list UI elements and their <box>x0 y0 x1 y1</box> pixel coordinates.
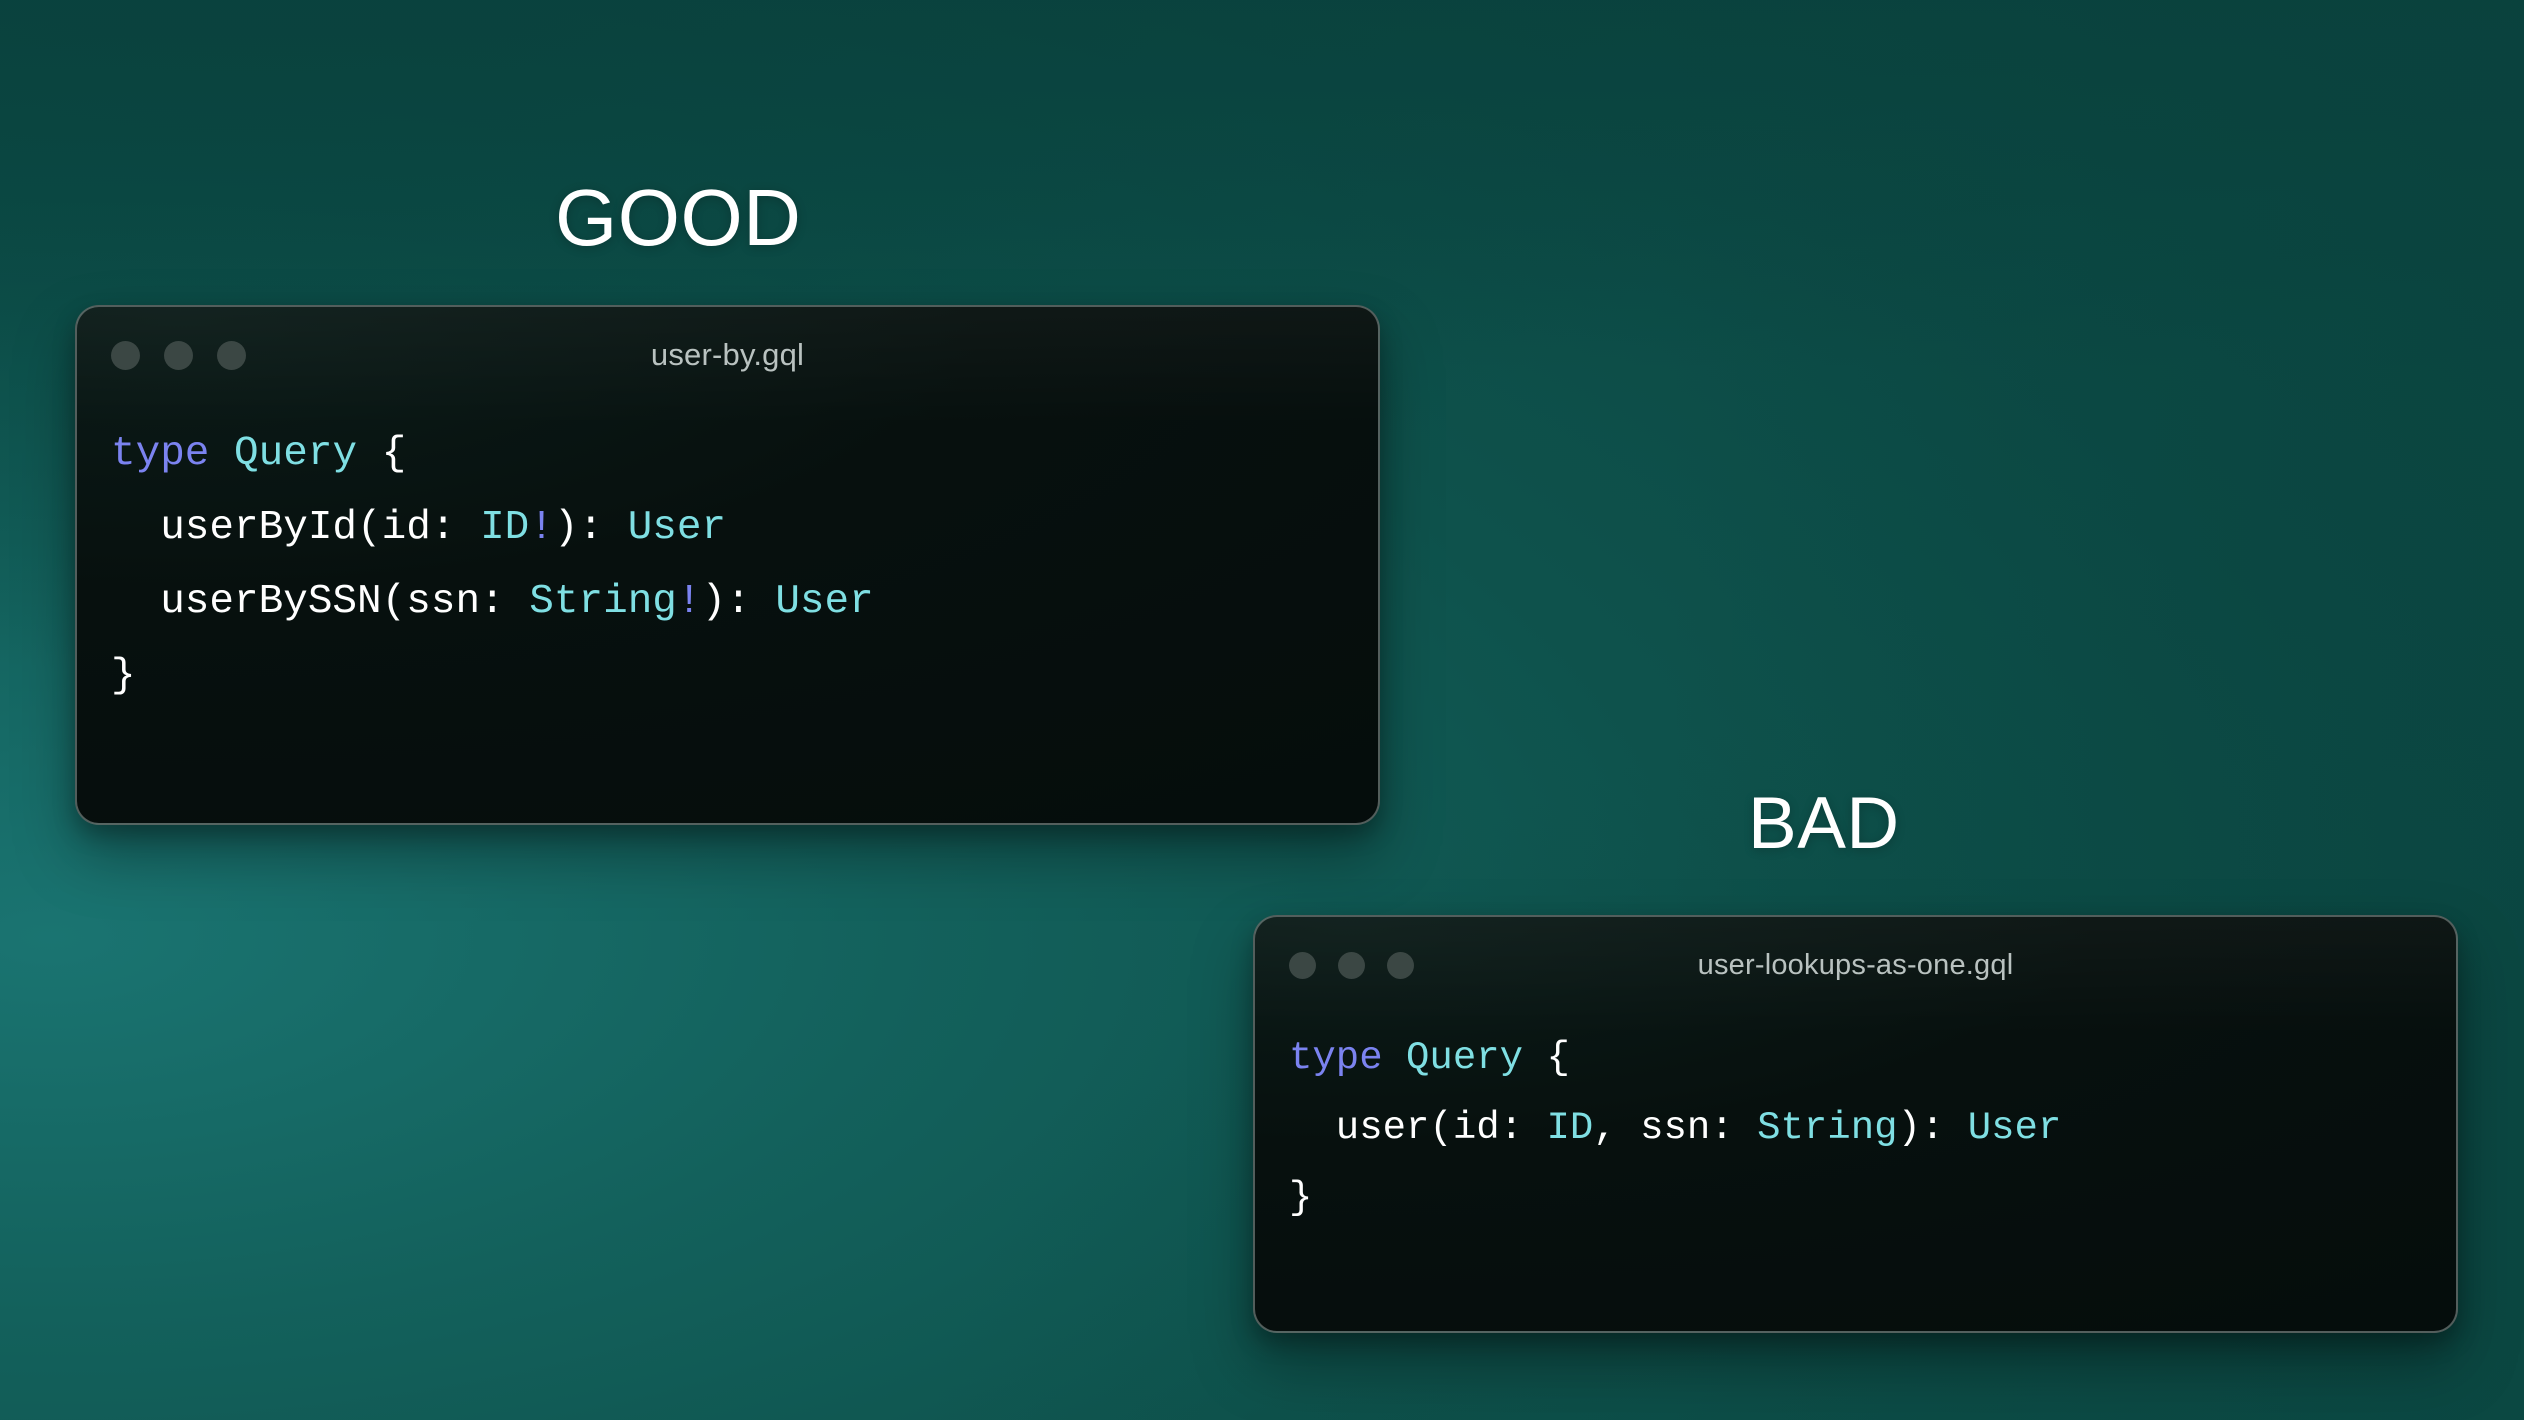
bad-label: BAD <box>1748 787 1900 860</box>
window-controls-bad <box>1289 952 1414 979</box>
code-line: user(id: ID, ssn: String): User <box>1289 1093 2422 1163</box>
code-content-good: type Query { userById(id: ID!): User use… <box>77 403 1378 713</box>
titlebar-good: user-by.gql <box>77 307 1378 403</box>
code-line: type Query { <box>111 417 1344 491</box>
code-token-keyword: type <box>1289 1036 1383 1080</box>
code-token-type: Query <box>1406 1036 1523 1080</box>
code-token-plain: { <box>357 431 406 477</box>
window-maximize-dot[interactable] <box>217 341 246 370</box>
window-controls-good <box>111 341 246 370</box>
code-token-type: ID <box>1546 1106 1593 1150</box>
code-line: } <box>1289 1163 2422 1233</box>
code-token-bang: ! <box>677 579 702 625</box>
code-token-plain: } <box>111 653 136 699</box>
code-token-plain: ): <box>554 505 628 551</box>
code-token-plain: ): <box>1898 1106 1968 1150</box>
code-token-plain: { <box>1523 1036 1570 1080</box>
code-window-bad: user-lookups-as-one.gql type Query { use… <box>1253 915 2458 1333</box>
code-line: type Query { <box>1289 1023 2422 1093</box>
code-token-type: User <box>628 505 726 551</box>
titlebar-bad: user-lookups-as-one.gql <box>1255 917 2456 1013</box>
code-line: userBySSN(ssn: String!): User <box>111 565 1344 639</box>
code-token-type: ID <box>480 505 529 551</box>
window-maximize-dot[interactable] <box>1387 952 1414 979</box>
window-minimize-dot[interactable] <box>1338 952 1365 979</box>
window-close-dot[interactable] <box>1289 952 1316 979</box>
code-line: } <box>111 639 1344 713</box>
code-token-plain: userById(id: <box>111 505 480 551</box>
window-title-bad: user-lookups-as-one.gql <box>1255 949 2456 982</box>
code-token-plain: } <box>1289 1176 1312 1220</box>
code-token-type: User <box>1968 1106 2062 1150</box>
code-token-plain: user(id: <box>1289 1106 1546 1150</box>
code-token-plain <box>1383 1036 1406 1080</box>
window-title-good: user-by.gql <box>77 337 1378 373</box>
code-token-type: User <box>775 579 873 625</box>
code-token-type: String <box>1757 1106 1897 1150</box>
code-token-bang: ! <box>529 505 554 551</box>
code-window-good: user-by.gql type Query { userById(id: ID… <box>75 305 1380 825</box>
code-token-plain: userBySSN(ssn: <box>111 579 529 625</box>
code-line: userById(id: ID!): User <box>111 491 1344 565</box>
code-token-type: String <box>529 579 677 625</box>
code-token-plain: ): <box>702 579 776 625</box>
window-close-dot[interactable] <box>111 341 140 370</box>
window-minimize-dot[interactable] <box>164 341 193 370</box>
code-token-plain <box>209 431 234 477</box>
code-token-keyword: type <box>111 431 209 477</box>
good-label: GOOD <box>555 178 801 258</box>
code-token-plain: , ssn: <box>1593 1106 1757 1150</box>
code-content-bad: type Query { user(id: ID, ssn: String): … <box>1255 1013 2456 1233</box>
code-token-type: Query <box>234 431 357 477</box>
